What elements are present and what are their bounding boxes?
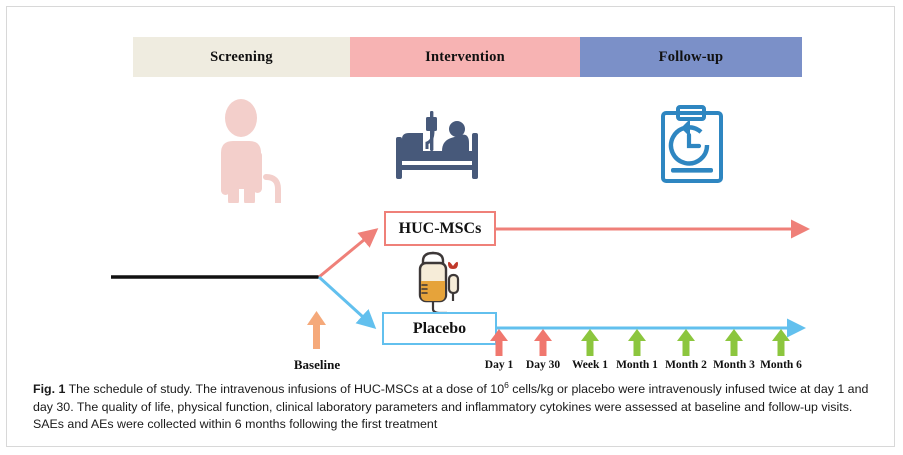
timepoint-arrow-month-1 <box>628 329 646 356</box>
timepoint-label-day-30: Day 30 <box>526 359 560 371</box>
timepoint-label-day-1: Day 1 <box>485 359 513 371</box>
iv-infusion-bag-icon <box>411 247 473 313</box>
figure-frame: Screening Intervention Follow-up <box>6 6 895 447</box>
baseline-label: Baseline <box>294 357 340 373</box>
arm-label-huc-mscs: HUC-MSCs <box>399 220 482 238</box>
timepoint-label-month-2: Month 2 <box>665 359 707 371</box>
figure-page: Screening Intervention Follow-up <box>0 0 903 455</box>
clipboard-clock-icon <box>659 105 733 185</box>
timepoint-label-month-1: Month 1 <box>616 359 658 371</box>
phase-band-followup: Follow-up <box>580 37 802 77</box>
hospital-bed-infusion-icon <box>390 107 490 183</box>
phase-label-followup: Follow-up <box>659 49 724 66</box>
arm-box-huc-mscs[interactable]: HUC-MSCs <box>384 211 496 246</box>
timepoint-arrow-week-1 <box>581 329 599 356</box>
timepoint-label-month-3: Month 3 <box>713 359 755 371</box>
branch-line-huc-mscs <box>319 230 376 277</box>
arm-label-placebo: Placebo <box>413 320 466 338</box>
timepoint-label-week-1: Week 1 <box>572 359 608 371</box>
branch-line-placebo <box>319 277 374 327</box>
timepoint-label-month-6: Month 6 <box>760 359 802 371</box>
arm-box-placebo[interactable]: Placebo <box>382 312 497 345</box>
phase-band-intervention: Intervention <box>350 37 580 77</box>
timepoint-arrow-month-3 <box>725 329 743 356</box>
caption-figure-number: Fig. 1 <box>33 382 65 396</box>
phase-label-screening: Screening <box>210 49 273 66</box>
baseline-arrow <box>307 311 326 349</box>
timepoint-arrow-month-6 <box>772 329 790 356</box>
patient-with-cane-icon <box>200 99 292 203</box>
timepoint-arrow-month-2 <box>677 329 695 356</box>
caption-text-part1: The schedule of study. The intravenous i… <box>69 382 505 396</box>
figure-caption: Fig. 1 The schedule of study. The intrav… <box>33 381 873 434</box>
timepoint-arrow-day-30 <box>534 329 552 356</box>
phase-band-screening: Screening <box>133 37 350 77</box>
phase-label-intervention: Intervention <box>425 49 505 66</box>
